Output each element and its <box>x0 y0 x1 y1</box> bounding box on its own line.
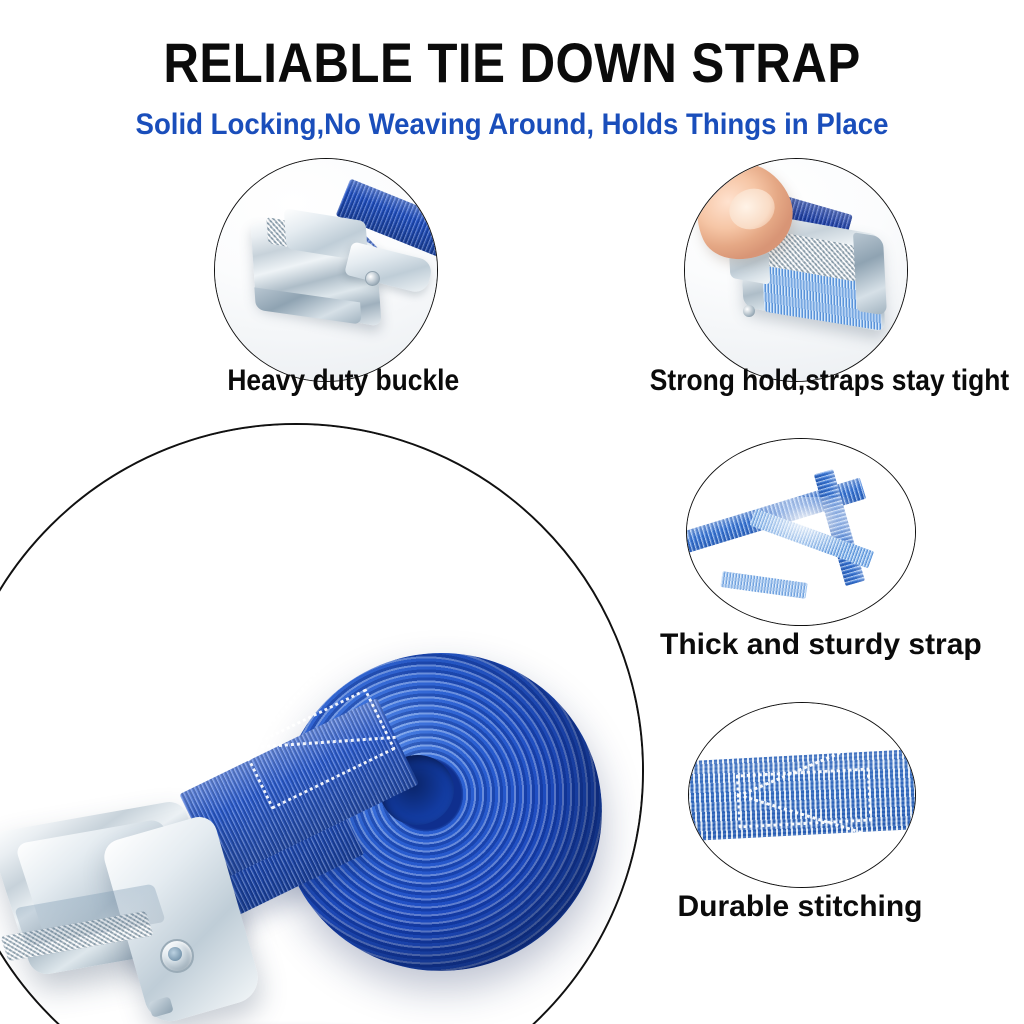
page-subtitle: Solid Locking,No Weaving Around, Holds T… <box>41 108 983 142</box>
feature-caption-strong-hold: Strong hold,straps stay tight <box>650 364 940 398</box>
hero-product-photo <box>0 423 644 1024</box>
feature-caption-durable-stitching: Durable stitching <box>660 890 940 924</box>
page-title: RELIABLE TIE DOWN STRAP <box>61 34 962 92</box>
feature-caption-thick-sturdy-strap: Thick and sturdy strap <box>660 628 940 662</box>
product-infographic: RELIABLE TIE DOWN STRAP Solid Locking,No… <box>0 0 1024 1024</box>
feature-image-strong-hold <box>684 158 908 382</box>
feature-caption-heavy-duty-buckle: Heavy duty buckle <box>227 364 422 398</box>
feature-image-thick-sturdy-strap <box>686 438 916 626</box>
feature-image-heavy-duty-buckle <box>214 158 438 382</box>
feature-image-durable-stitching <box>688 702 916 888</box>
